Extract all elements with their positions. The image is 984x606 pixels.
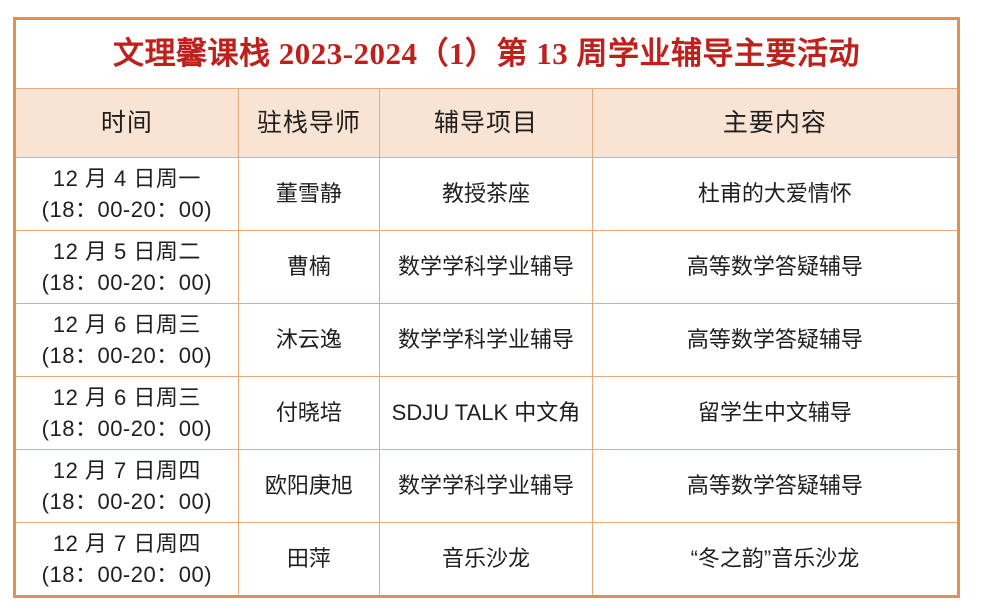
column-header-time: 时间 <box>15 89 239 158</box>
table-row: 12 月 6 日周三 (18：00-20：00) 付晓培 SDJU TALK 中… <box>15 377 959 450</box>
cell-content: 留学生中文辅导 <box>592 377 958 450</box>
cell-mentor: 欧阳庚旭 <box>238 450 379 523</box>
cell-mentor: 曹楠 <box>238 231 379 304</box>
cell-program: 数学学科学业辅导 <box>380 450 593 523</box>
table-title-cell: 文理馨课栈 2023-2024（1）第 13 周学业辅导主要活动 <box>15 19 959 89</box>
column-header-mentor: 驻栈导师 <box>238 89 379 158</box>
cell-content: 高等数学答疑辅导 <box>592 304 958 377</box>
cell-time: 12 月 5 日周二 (18：00-20：00) <box>15 231 239 304</box>
table-row: 12 月 4 日周一 (18：00-20：00) 董雪静 教授茶座 杜甫的大爱情… <box>15 158 959 231</box>
cell-program: 教授茶座 <box>380 158 593 231</box>
cell-mentor: 沐云逸 <box>238 304 379 377</box>
page-title: 文理馨课栈 2023-2024（1）第 13 周学业辅导主要活动 <box>16 36 957 72</box>
cell-time: 12 月 6 日周三 (18：00-20：00) <box>15 377 239 450</box>
cell-time: 12 月 4 日周一 (18：00-20：00) <box>15 158 239 231</box>
table-row: 12 月 7 日周四 (18：00-20：00) 欧阳庚旭 数学学科学业辅导 高… <box>15 450 959 523</box>
cell-mentor: 付晓培 <box>238 377 379 450</box>
column-header-content: 主要内容 <box>592 89 958 158</box>
cell-time: 12 月 6 日周三 (18：00-20：00) <box>15 304 239 377</box>
cell-content: “冬之韵”音乐沙龙 <box>592 523 958 597</box>
column-header-program: 辅导项目 <box>380 89 593 158</box>
cell-content: 高等数学答疑辅导 <box>592 231 958 304</box>
table-row: 12 月 5 日周二 (18：00-20：00) 曹楠 数学学科学业辅导 高等数… <box>15 231 959 304</box>
cell-program: 数学学科学业辅导 <box>380 231 593 304</box>
cell-content: 高等数学答疑辅导 <box>592 450 958 523</box>
cell-mentor: 田萍 <box>238 523 379 597</box>
table-title-row: 文理馨课栈 2023-2024（1）第 13 周学业辅导主要活动 <box>15 19 959 89</box>
cell-program: 数学学科学业辅导 <box>380 304 593 377</box>
table-header-row: 时间 驻栈导师 辅导项目 主要内容 <box>15 89 959 158</box>
cell-program: 音乐沙龙 <box>380 523 593 597</box>
activity-schedule-table: 文理馨课栈 2023-2024（1）第 13 周学业辅导主要活动 时间 驻栈导师… <box>13 17 960 598</box>
document-page: 文理馨课栈 2023-2024（1）第 13 周学业辅导主要活动 时间 驻栈导师… <box>0 0 984 606</box>
table-row: 12 月 6 日周三 (18：00-20：00) 沐云逸 数学学科学业辅导 高等… <box>15 304 959 377</box>
cell-time: 12 月 7 日周四 (18：00-20：00) <box>15 523 239 597</box>
cell-program: SDJU TALK 中文角 <box>380 377 593 450</box>
cell-mentor: 董雪静 <box>238 158 379 231</box>
table-row: 12 月 7 日周四 (18：00-20：00) 田萍 音乐沙龙 “冬之韵”音乐… <box>15 523 959 597</box>
cell-time: 12 月 7 日周四 (18：00-20：00) <box>15 450 239 523</box>
cell-content: 杜甫的大爱情怀 <box>592 158 958 231</box>
